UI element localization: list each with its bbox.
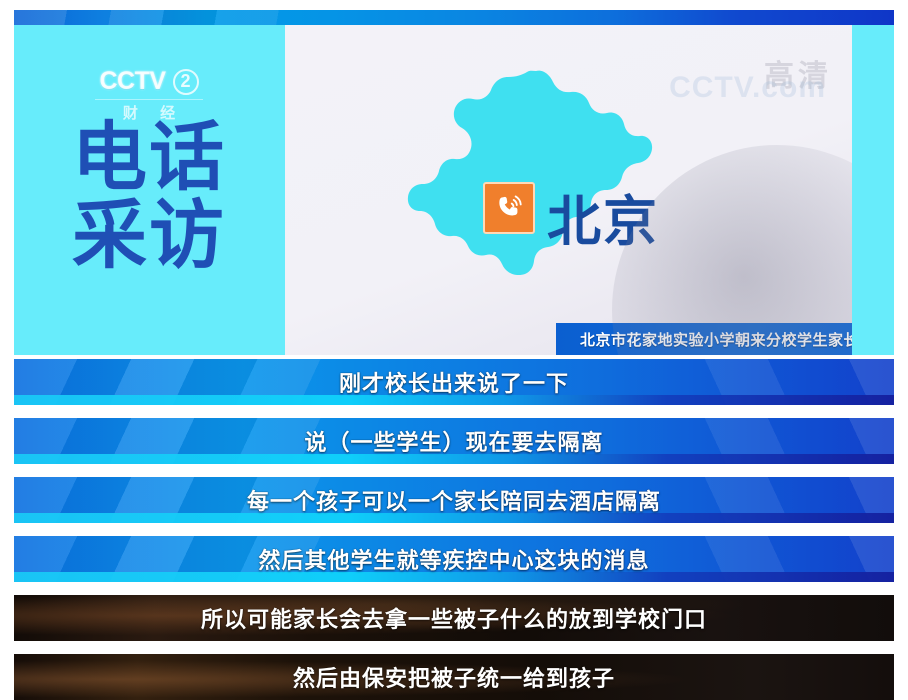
subtitle-row: 然后其他学生就等疾控中心这块的消息 [14,536,894,582]
speaker-name-text: 北京市花家地实验小学朝来分校学生家长 [580,329,852,350]
subtitle-row: 刚才校长出来说了一下 [14,359,894,405]
broadcast-stage: CCTV 2 财 经 电话 采访 高清 CCTV.com [14,25,894,355]
broadcast-frame: CCTV 2 财 经 电话 采访 高清 CCTV.com [0,0,908,681]
subtitle-row: 然后由保安把被子统一给到孩子 [14,654,894,700]
hd-watermark-cn: 高清 [764,51,832,95]
subtitle-text: 刚才校长出来说了一下 [339,366,569,398]
phone-call-icon [483,182,535,234]
headline-line-1: 电话 [72,121,282,193]
subtitle-stack: 刚才校长出来说了一下 说（一些学生）现在要去隔离 每一个孩子可以一个家长陪同去酒… [14,359,894,700]
cctv-logo-row: CCTV 2 [99,67,198,96]
cctv-channel-number: 2 [173,69,199,95]
subtitle-text: 每一个孩子可以一个家长陪同去酒店隔离 [247,484,661,516]
speaker-name-bar: 北京市花家地实验小学朝来分校学生家长 [556,323,852,355]
subtitle-text: 所以可能家长会去拿一些被子什么的放到学校门口 [201,602,707,634]
subtitle-row: 所以可能家长会去拿一些被子什么的放到学校门口 [14,595,894,641]
subtitle-row: 每一个孩子可以一个家长陪同去酒店隔离 [14,477,894,523]
program-headline: 电话 采访 [72,121,282,271]
map-panel: 高清 CCTV.com 北京 北京市花家地实验小学朝来分校学生家长 [285,25,852,355]
phone-handset-glyph [492,191,526,225]
map-region-label: 北京 [547,177,659,256]
cctv-wordmark: CCTV [99,67,165,96]
subtitle-text: 然后其他学生就等疾控中心这块的消息 [258,543,649,575]
right-cyan-strip [852,25,894,355]
hd-watermark: 高清 CCTV.com [764,51,832,95]
headline-line-2: 采访 [72,199,282,271]
subtitle-row: 说（一些学生）现在要去隔离 [14,418,894,464]
subtitle-text: 然后由保安把被子统一给到孩子 [293,661,615,693]
title-panel: CCTV 2 财 经 电话 采访 [14,25,285,355]
top-gradient-banner [14,10,894,25]
subtitle-text: 说（一些学生）现在要去隔离 [304,425,603,457]
